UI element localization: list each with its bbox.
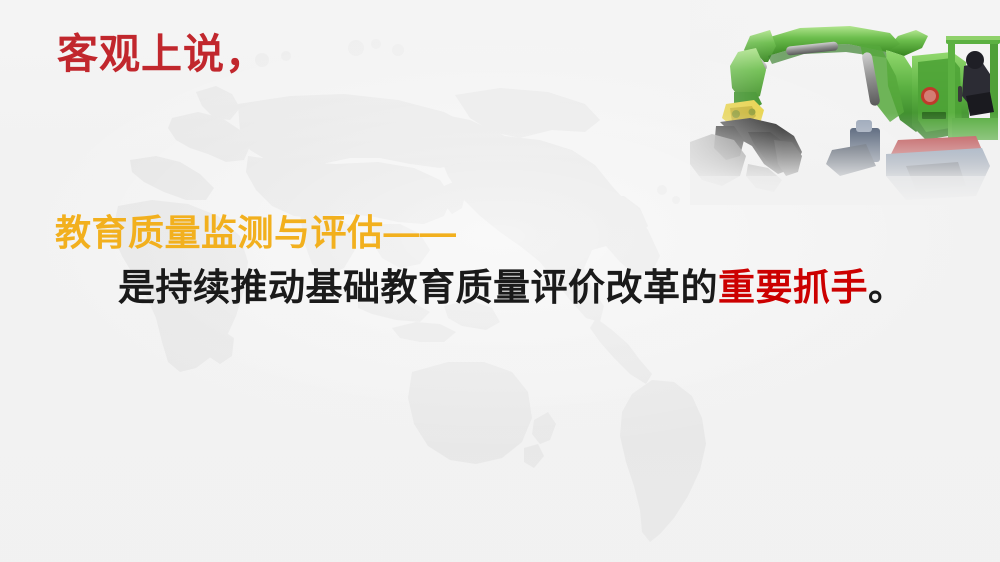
statement-suffix: 。 — [868, 267, 906, 308]
photo-edge-fade — [690, 0, 1000, 205]
statement-text: 是持续推动基础教育质量评价改革的重要抓手。 — [118, 265, 906, 311]
presentation-slide: 客观上说， 教育质量监测与评估—— 是持续推动基础教育质量评价改革的重要抓手。 — [0, 0, 1000, 562]
subject-heading: 教育质量监测与评估—— — [55, 211, 457, 254]
statement-prefix: 是持续推动基础教育质量评价改革的 — [118, 267, 718, 308]
statement-emphasis: 重要抓手 — [718, 267, 868, 308]
green-grapple-excavator-photo — [690, 0, 1000, 205]
page-title: 客观上说， — [57, 31, 267, 78]
